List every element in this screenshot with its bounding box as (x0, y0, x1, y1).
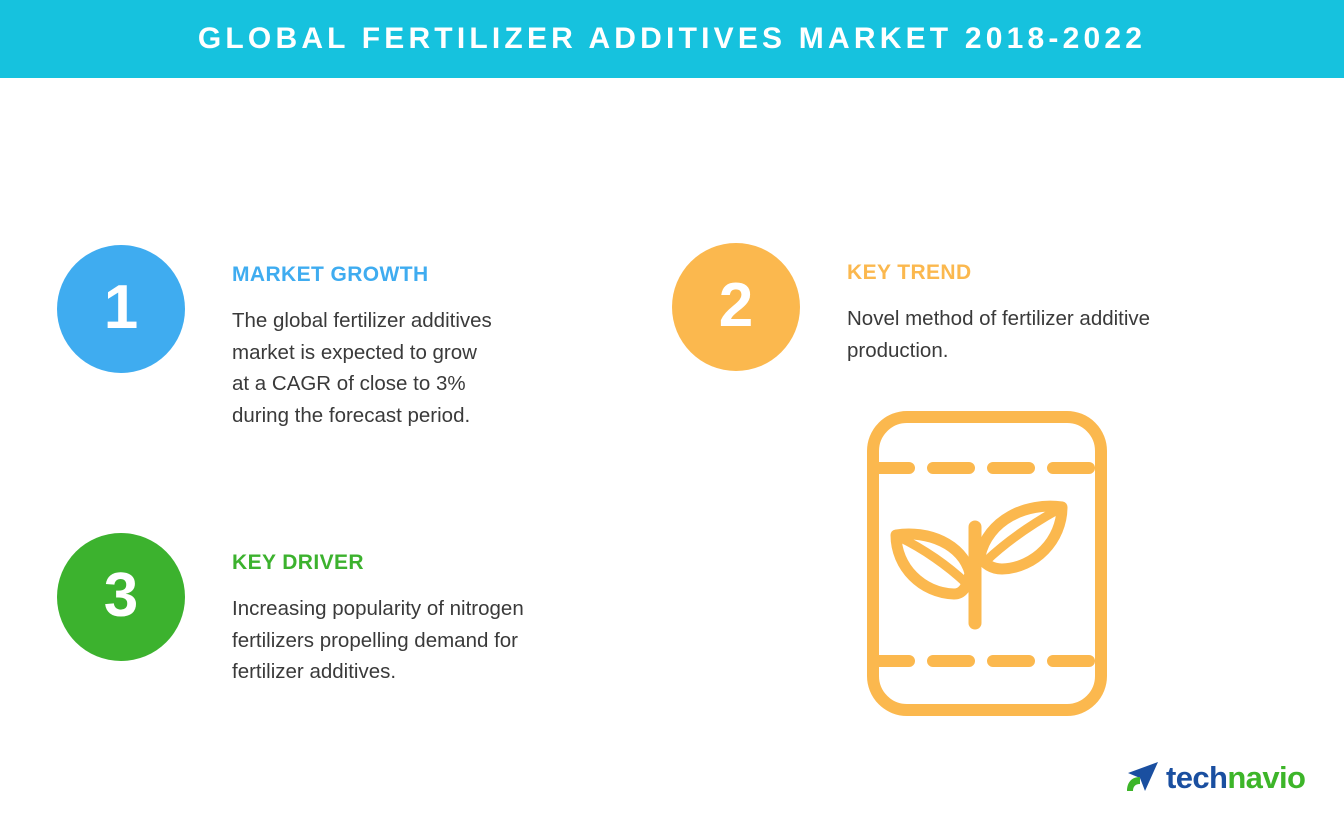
body-line: at a CAGR of close to 3% (232, 368, 652, 400)
body-line: Novel method of fertilizer additive (847, 303, 1277, 335)
block-heading-market-growth: MARKET GROWTH (232, 263, 652, 286)
page-title: GLOBAL FERTILIZER ADDITIVES MARKET 2018-… (198, 24, 1146, 54)
block-heading-key-driver: KEY DRIVER (232, 551, 652, 574)
body-line: market is expected to grow (232, 337, 652, 369)
technavio-logo[interactable]: technavio (1124, 760, 1305, 794)
infographic-page: GLOBAL FERTILIZER ADDITIVES MARKET 2018-… (0, 0, 1344, 816)
logo-word-tech: tech (1166, 760, 1227, 795)
body-line: The global fertilizer additives (232, 305, 652, 337)
technavio-mark-icon (1124, 760, 1160, 794)
number-badge-3: 3 (57, 533, 185, 661)
body-line: during the forecast period. (232, 400, 652, 432)
body-line: Increasing popularity of nitrogen (232, 593, 652, 625)
body-line: production. (847, 335, 1277, 367)
number-badge-1: 1 (57, 245, 185, 373)
info-block-text: KEY TREND Novel method of fertilizer add… (847, 261, 1277, 366)
logo-word-navio: navio (1227, 760, 1305, 795)
fertilizer-bag-sprout-icon (862, 406, 1112, 721)
block-heading-key-trend: KEY TREND (847, 261, 1277, 284)
info-block-text: KEY DRIVER Increasing popularity of nitr… (232, 551, 652, 688)
technavio-wordmark: technavio (1166, 762, 1305, 793)
block-body-market-growth: The global fertilizer additives market i… (232, 305, 652, 431)
number-badge-2: 2 (672, 243, 800, 371)
badge-number-label: 3 (104, 565, 138, 627)
block-body-key-driver: Increasing popularity of nitrogen fertil… (232, 593, 652, 688)
info-block-text: MARKET GROWTH The global fertilizer addi… (232, 263, 652, 431)
block-body-key-trend: Novel method of fertilizer additive prod… (847, 303, 1277, 366)
badge-number-label: 2 (719, 275, 753, 337)
body-line: fertilizer additives. (232, 656, 652, 688)
body-line: fertilizers propelling demand for (232, 625, 652, 657)
header-band: GLOBAL FERTILIZER ADDITIVES MARKET 2018-… (0, 0, 1344, 78)
badge-number-label: 1 (104, 277, 138, 339)
